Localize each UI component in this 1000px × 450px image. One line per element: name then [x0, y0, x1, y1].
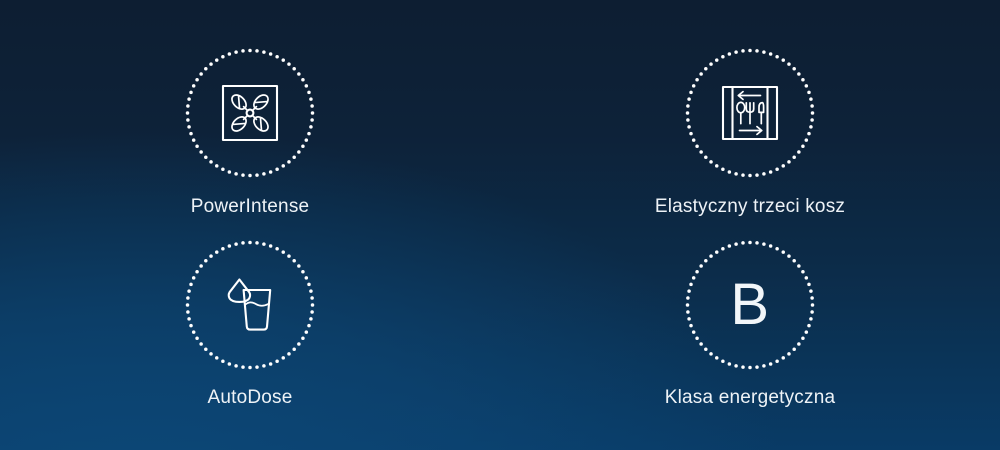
feature-label: AutoDose: [207, 387, 292, 409]
feature-label: Elastyczny trzeci kosz: [655, 196, 845, 218]
feature-tile-energy-class[interactable]: B Klasa energetyczna: [500, 225, 1000, 450]
energy-class-letter-icon: B: [730, 276, 769, 334]
cutlery-basket-icon: [719, 82, 781, 144]
feature-tile-power-intense[interactable]: PowerIntense: [0, 0, 500, 225]
feature-tile-auto-dose[interactable]: AutoDose: [0, 225, 500, 450]
feature-icon-ring: [185, 240, 315, 370]
feature-label: Klasa energetyczna: [665, 387, 835, 409]
feature-icon-ring: B: [685, 240, 815, 370]
feature-highlights-panel: PowerIntense: [0, 0, 1000, 450]
feature-icon-ring: [685, 48, 815, 178]
feature-label: PowerIntense: [191, 196, 310, 218]
feature-tile-flexible-third-rack[interactable]: Elastyczny trzeci kosz: [500, 0, 1000, 225]
droplet-glass-icon: [219, 274, 281, 336]
feature-icon-ring: [185, 48, 315, 178]
spray-jets-square-icon: [219, 82, 281, 144]
feature-grid: PowerIntense: [0, 0, 1000, 450]
